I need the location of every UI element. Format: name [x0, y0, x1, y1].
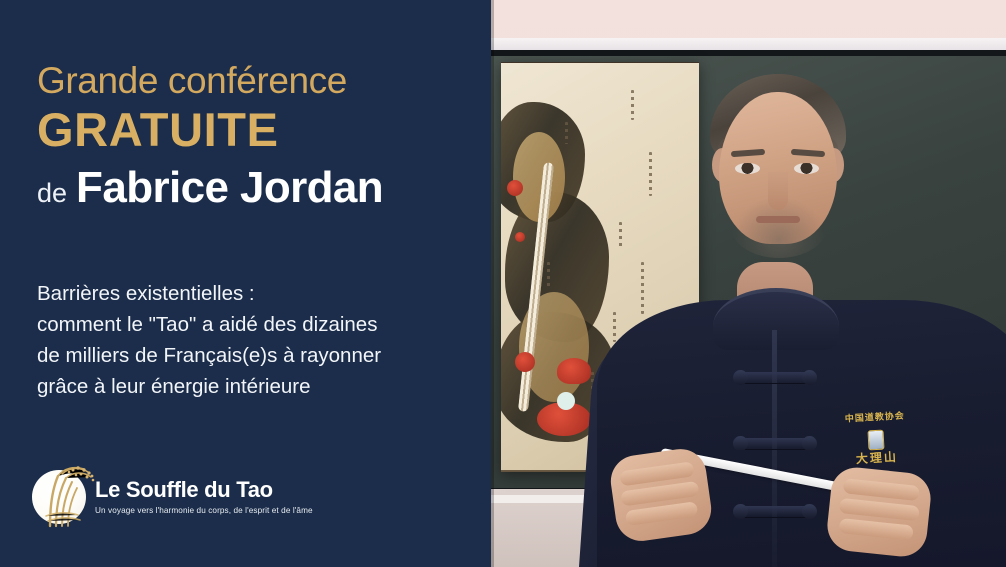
presenter-prefix: de	[37, 178, 67, 209]
hand-right	[825, 465, 933, 559]
headline-kicker: Grande conférence	[37, 62, 477, 100]
badge-emblem-icon	[867, 430, 884, 451]
subtitle-block: Barrières existentielles : comment le "T…	[37, 278, 472, 403]
headline-emphasis: GRATUITE	[37, 104, 477, 157]
frog-button-low	[739, 506, 811, 517]
panel-photo-seam	[491, 0, 494, 567]
nose	[768, 172, 788, 210]
brand-tagline: Un voyage vers l'harmonie du corps, de l…	[95, 506, 313, 515]
badge-arc-text: 中国道教协会	[841, 408, 908, 424]
eye-right	[794, 163, 819, 174]
reed-circle-icon	[32, 470, 86, 524]
hand-left	[607, 446, 714, 545]
subtitle-line-2: comment le "Tao" a aidé des dizaines	[37, 309, 472, 340]
brand-name: Le Souffle du Tao	[95, 479, 313, 501]
presenter-name: Fabrice Jordan	[76, 163, 383, 213]
banner-canvas: 中国道教协会 大理山 Grande conférence GRATUITE	[0, 0, 1006, 567]
mouth	[756, 216, 800, 223]
subtitle-line-4: grâce à leur énergie intérieure	[37, 371, 472, 402]
speaker-figure: 中国道教协会 大理山	[491, 0, 1006, 567]
brand-logo-text: Le Souffle du Tao Un voyage vers l'harmo…	[95, 479, 313, 515]
embroidered-jacket-badge: 中国道教协会 大理山	[841, 408, 910, 471]
frog-button-mid	[739, 438, 811, 449]
subtitle-line-1: Barrières existentielles :	[37, 278, 472, 309]
subtitle-line-3: de milliers de Français(e)s à rayonner	[37, 340, 472, 371]
speaker-photo: 中国道教协会 大理山	[491, 0, 1006, 567]
headline-block: Grande conférence GRATUITE de Fabrice Jo…	[37, 62, 477, 213]
badge-base-text: 大理山	[844, 447, 911, 467]
eye-left	[735, 163, 760, 174]
presenter-line: de Fabrice Jordan	[37, 163, 477, 213]
brand-logo[interactable]: Le Souffle du Tao Un voyage vers l'harmo…	[32, 470, 313, 524]
frog-button-top	[739, 372, 811, 383]
text-panel: Grande conférence GRATUITE de Fabrice Jo…	[0, 0, 491, 567]
